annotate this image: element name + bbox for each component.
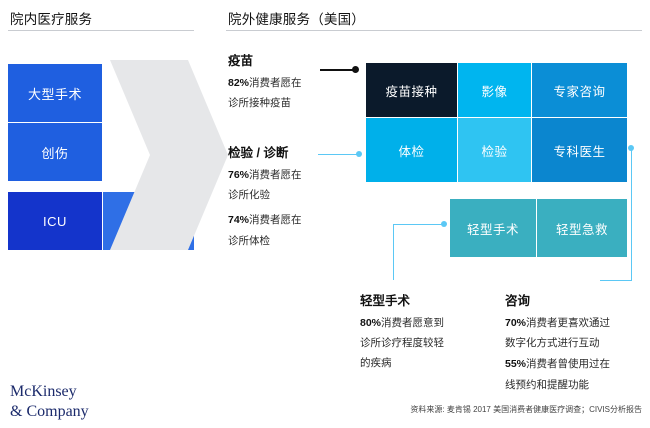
annotation-diagnostics-line-3: 74%消费者愿在 xyxy=(228,213,338,228)
annotation-consult-text-2: 数字化方式进行互动 xyxy=(505,337,600,349)
left-cell-icu: ICU xyxy=(8,192,102,250)
annotation-minor-surgery-line-3: 的疾病 xyxy=(360,356,488,371)
annotation-vaccine-title: 疫苗 xyxy=(228,50,328,69)
mckinsey-logo: McKinsey & Company xyxy=(10,382,89,422)
annotation-diagnostics-line-1: 76%消费者愿在 xyxy=(228,168,338,183)
tile-vaccination: 疫苗接种 xyxy=(366,63,457,117)
annotation-diagnostics-stat-1: 76% xyxy=(228,169,249,181)
tile-lab-test: 检验 xyxy=(458,118,531,182)
leader-dot-consult xyxy=(628,145,634,151)
annotation-diagnostics-text-3: 消费者愿在 xyxy=(249,214,302,226)
annotation-minor-surgery-text-3: 的疾病 xyxy=(360,357,392,369)
annotation-diagnostics-stat-2: 74% xyxy=(228,214,249,226)
leader-vline-consult xyxy=(631,148,632,280)
tile-minor-surgery: 轻型手术 xyxy=(450,199,536,257)
annotation-consult: 咨询 70%消费者更喜欢通过 数字化方式进行互动 55%消费者曾使用过在 线预约… xyxy=(505,290,645,398)
annotation-diagnostics-text-1: 消费者愿在 xyxy=(249,169,302,181)
tile-minor-emergency: 轻型急救 xyxy=(537,199,627,257)
header-right: 院外健康服务（美国） xyxy=(228,8,365,28)
leader-dot-diagnostics xyxy=(356,151,362,157)
annotation-minor-surgery-line-1: 80%消费者愿意到 xyxy=(360,316,488,331)
annotation-consult-text-4: 线预约和提醒功能 xyxy=(505,379,589,391)
annotation-diagnostics: 检验 / 诊断 76%消费者愿在 诊所化验 74%消费者愿在 诊所体检 xyxy=(228,142,338,254)
logo-line-1: McKinsey xyxy=(10,382,89,402)
source-note: 资料来源: 麦肯锡 2017 美国消费者健康医疗调查；CIVIS分析报告 xyxy=(410,404,642,415)
annotation-consult-line-1: 70%消费者更喜欢通过 xyxy=(505,316,645,331)
tile-physical-exam: 体检 xyxy=(366,118,457,182)
annotation-consult-stat-1: 70% xyxy=(505,317,526,329)
logo-line-2: & Company xyxy=(10,402,89,422)
annotation-consult-line-4: 线预约和提醒功能 xyxy=(505,378,645,393)
diagram-root: 院内医疗服务 院外健康服务（美国） 大型手术 创伤 ICU 住院 疫苗接种 影像… xyxy=(0,0,650,428)
annotation-vaccine-line-1: 82%消费者愿在 xyxy=(228,76,328,91)
annotation-minor-surgery: 轻型手术 80%消费者愿意到 诊所诊疗程度较轻 的疾病 xyxy=(360,290,488,377)
annotation-vaccine-text-2: 诊所接种疫苗 xyxy=(228,97,291,109)
tile-imaging: 影像 xyxy=(458,63,531,117)
leader-line-minor-surgery xyxy=(393,224,445,225)
header-left: 院内医疗服务 xyxy=(10,8,92,28)
annotation-minor-surgery-stat-1: 80% xyxy=(360,317,381,329)
leader-line-consult xyxy=(600,280,632,281)
header-right-rule xyxy=(226,30,642,31)
annotation-consult-text-3: 消费者曾使用过在 xyxy=(526,358,610,370)
annotation-minor-surgery-text-2: 诊所诊疗程度较轻 xyxy=(360,337,444,349)
annotation-minor-surgery-text-1: 消费者愿意到 xyxy=(381,317,444,329)
left-cell-trauma: 创伤 xyxy=(8,123,102,181)
annotation-minor-surgery-title: 轻型手术 xyxy=(360,290,488,309)
annotation-consult-stat-2: 55% xyxy=(505,358,526,370)
annotation-vaccine: 疫苗 82%消费者愿在 诊所接种疫苗 xyxy=(228,50,328,116)
leader-dot-minor-surgery xyxy=(441,221,447,227)
annotation-minor-surgery-line-2: 诊所诊疗程度较轻 xyxy=(360,336,488,351)
tile-specialty-doctor: 专科医生 xyxy=(532,118,627,182)
header-left-rule xyxy=(8,30,194,31)
annotation-consult-line-2: 数字化方式进行互动 xyxy=(505,336,645,351)
leader-vline-minor-surgery xyxy=(393,224,394,280)
annotation-vaccine-stat-1: 82% xyxy=(228,77,249,89)
annotation-vaccine-line-2: 诊所接种疫苗 xyxy=(228,96,328,111)
annotation-diagnostics-title: 检验 / 诊断 xyxy=(228,142,338,161)
transition-arrow xyxy=(110,60,230,255)
annotation-diagnostics-line-2: 诊所化验 xyxy=(228,188,338,203)
annotation-diagnostics-line-4: 诊所体检 xyxy=(228,234,338,249)
annotation-diagnostics-text-4: 诊所体检 xyxy=(228,235,270,247)
annotation-consult-title: 咨询 xyxy=(505,290,645,309)
leader-dot-vaccine xyxy=(352,66,359,73)
tile-specialist-consult: 专家咨询 xyxy=(532,63,627,117)
left-cell-major-surgery: 大型手术 xyxy=(8,64,102,122)
annotation-consult-text-1: 消费者更喜欢通过 xyxy=(526,317,610,329)
annotation-diagnostics-text-2: 诊所化验 xyxy=(228,189,270,201)
annotation-vaccine-text-1: 消费者愿在 xyxy=(249,77,302,89)
annotation-consult-line-3: 55%消费者曾使用过在 xyxy=(505,357,645,372)
